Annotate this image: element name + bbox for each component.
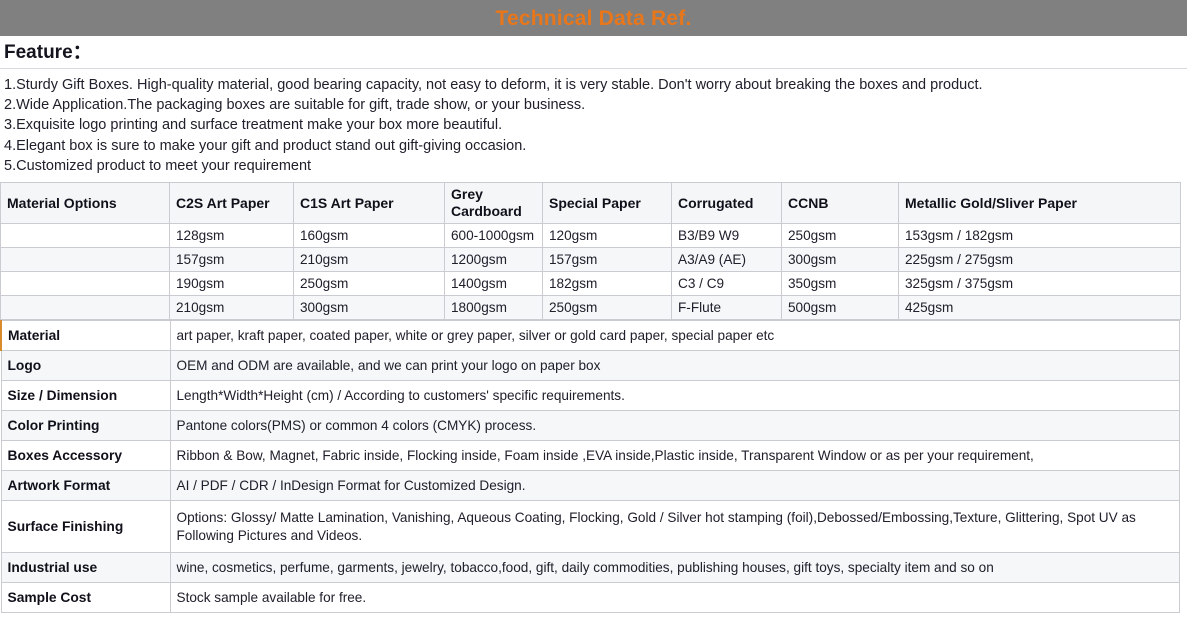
feature-line: 2.Wide Application.The packaging boxes a… [4,95,1183,115]
cell-ccnb: 350gsm [782,272,899,296]
cell-c2s: 190gsm [170,272,294,296]
spec-value: OEM and ODM are available, and we can pr… [170,351,1180,381]
spec-key: Logo [1,351,170,381]
cell-c1s: 160gsm [294,224,445,248]
cell-metallic: 225gsm / 275gsm [899,248,1181,272]
spec-key: Industrial use [1,553,170,583]
cell-material-options [1,272,170,296]
cell-c2s: 210gsm [170,296,294,320]
cell-special: 182gsm [543,272,672,296]
cell-metallic: 325gsm / 375gsm [899,272,1181,296]
table-header-row: Material Options C2S Art Paper C1S Art P… [1,183,1181,224]
spec-key: Surface Finishing [1,501,170,553]
column-header-c2s-art-paper: C2S Art Paper [170,183,294,224]
feature-line: 3.Exquisite logo printing and surface tr… [4,115,1183,135]
specification-table: Material art paper, kraft paper, coated … [0,320,1180,613]
spec-key: Material [1,321,170,351]
cell-special: 120gsm [543,224,672,248]
spec-row-size-dimension: Size / Dimension Length*Width*Height (cm… [1,381,1180,411]
column-header-metallic-paper: Metallic Gold/Sliver Paper [899,183,1181,224]
cell-grey: 600-1000gsm [445,224,543,248]
cell-grey: 1800gsm [445,296,543,320]
cell-grey: 1400gsm [445,272,543,296]
cell-ccnb: 500gsm [782,296,899,320]
cell-metallic: 153gsm / 182gsm [899,224,1181,248]
cell-corrugated: A3/A9 (AE) [672,248,782,272]
column-header-material-options: Material Options [1,183,170,224]
spec-value: art paper, kraft paper, coated paper, wh… [170,321,1180,351]
spec-value: Pantone colors(PMS) or common 4 colors (… [170,411,1180,441]
feature-heading: Feature： [0,36,1187,69]
column-header-corrugated: Corrugated [672,183,782,224]
spec-key: Artwork Format [1,471,170,501]
spec-row-boxes-accessory: Boxes Accessory Ribbon & Bow, Magnet, Fa… [1,441,1180,471]
cell-c1s: 300gsm [294,296,445,320]
page-title: Technical Data Ref. [496,8,692,29]
cell-grey: 1200gsm [445,248,543,272]
spec-value: Ribbon & Bow, Magnet, Fabric inside, Flo… [170,441,1180,471]
spec-value: Options: Glossy/ Matte Lamination, Vanis… [170,501,1180,553]
feature-line: 5.Customized product to meet your requir… [4,156,1183,176]
feature-line: 1.Sturdy Gift Boxes. High-quality materi… [4,75,1183,95]
spec-row-color-printing: Color Printing Pantone colors(PMS) or co… [1,411,1180,441]
cell-corrugated: B3/B9 W9 [672,224,782,248]
spec-value: wine, cosmetics, perfume, garments, jewe… [170,553,1180,583]
table-row: 128gsm 160gsm 600-1000gsm 120gsm B3/B9 W… [1,224,1181,248]
feature-line: 4.Elegant box is sure to make your gift … [4,136,1183,156]
spec-row-sample-cost: Sample Cost Stock sample available for f… [1,583,1180,613]
cell-material-options [1,296,170,320]
column-header-ccnb: CCNB [782,183,899,224]
spec-key: Size / Dimension [1,381,170,411]
spec-row-surface-finishing: Surface Finishing Options: Glossy/ Matte… [1,501,1180,553]
cell-ccnb: 300gsm [782,248,899,272]
title-bar: Technical Data Ref. [0,0,1187,36]
cell-c1s: 210gsm [294,248,445,272]
technical-data-page: Technical Data Ref. Feature： 1.Sturdy Gi… [0,0,1187,620]
table-row: 210gsm 300gsm 1800gsm 250gsm F-Flute 500… [1,296,1181,320]
spec-row-industrial-use: Industrial use wine, cosmetics, perfume,… [1,553,1180,583]
column-header-c1s-art-paper: C1S Art Paper [294,183,445,224]
column-header-grey-cardboard: Grey Cardboard [445,183,543,224]
material-options-table: Material Options C2S Art Paper C1S Art P… [0,182,1181,320]
cell-material-options [1,224,170,248]
cell-corrugated: F-Flute [672,296,782,320]
spec-value: Length*Width*Height (cm) / According to … [170,381,1180,411]
feature-list: 1.Sturdy Gift Boxes. High-quality materi… [0,69,1187,182]
spec-row-logo: Logo OEM and ODM are available, and we c… [1,351,1180,381]
cell-ccnb: 250gsm [782,224,899,248]
spec-value: Stock sample available for free. [170,583,1180,613]
cell-c2s: 128gsm [170,224,294,248]
spec-key: Color Printing [1,411,170,441]
cell-material-options [1,248,170,272]
spec-row-artwork-format: Artwork Format AI / PDF / CDR / InDesign… [1,471,1180,501]
cell-c2s: 157gsm [170,248,294,272]
cell-metallic: 425gsm [899,296,1181,320]
cell-corrugated: C3 / C9 [672,272,782,296]
cell-special: 157gsm [543,248,672,272]
spec-key: Sample Cost [1,583,170,613]
table-row: 157gsm 210gsm 1200gsm 157gsm A3/A9 (AE) … [1,248,1181,272]
cell-special: 250gsm [543,296,672,320]
column-header-special-paper: Special Paper [543,183,672,224]
table-row: 190gsm 250gsm 1400gsm 182gsm C3 / C9 350… [1,272,1181,296]
cell-c1s: 250gsm [294,272,445,296]
feature-label: Feature： [4,43,92,62]
spec-key: Boxes Accessory [1,441,170,471]
spec-value: AI / PDF / CDR / InDesign Format for Cus… [170,471,1180,501]
spec-row-material: Material art paper, kraft paper, coated … [1,321,1180,351]
